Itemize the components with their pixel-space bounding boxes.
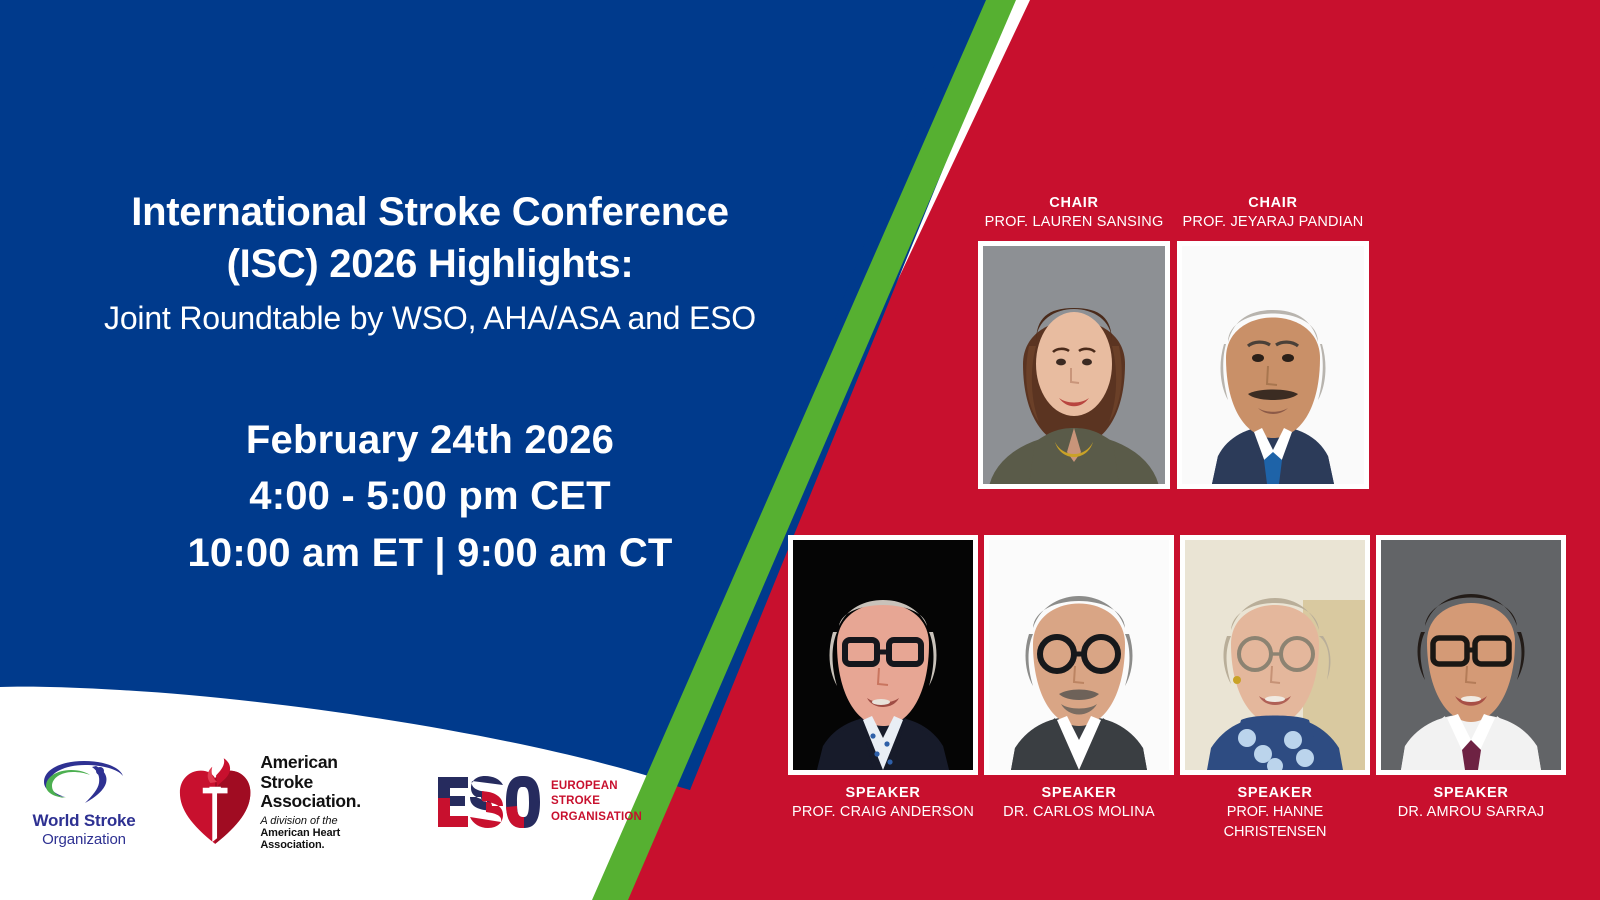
chair-card-1: CHAIR PROF. JEYARAJ PANDIAN [1177,194,1369,489]
speaker-name-0: PROF. CRAIG ANDERSON [788,803,978,823]
speaker-role-0: SPEAKER [788,784,978,803]
people-panel: CHAIR PROF. LAUREN SANSING [690,0,1600,900]
portrait-lauren-sansing [983,246,1165,484]
asa-logo-line1: American [260,753,400,773]
portrait-carlos-molina [989,540,1169,770]
asa-logo-line3: Association. [260,792,400,812]
speaker-photo-0 [793,540,973,770]
organization-logos: World Stroke Organization American Strok… [22,742,642,862]
portrait-hanne-christensen [1185,540,1365,770]
asa-logo-text: American Stroke Association. A division … [260,753,400,851]
portrait-jeyaraj-pandian [1182,246,1364,484]
speaker-photo-2 [1185,540,1365,770]
chair-role-1: CHAIR [1177,194,1369,213]
wso-logo-text: World Stroke Organization [32,811,135,848]
chair-role-0: CHAIR [978,194,1170,213]
aha-heart-torch-icon [178,756,252,848]
speaker-name-3: DR. AMROU SARRAJ [1376,803,1566,823]
speaker-label-3: SPEAKER DR. AMROU SARRAJ [1376,784,1566,823]
eso-logo-line1: EUROPEAN [551,779,642,794]
eso-logo-text: EUROPEAN STROKE ORGANISATION [551,779,642,825]
speaker-photo-frame-3 [1376,535,1566,775]
chair-photo-frame-0 [978,241,1170,489]
asa-logo-line2: Stroke [260,773,400,793]
chair-card-0: CHAIR PROF. LAUREN SANSING [978,194,1170,489]
eso-logo-line3: ORGANISATION [551,810,642,825]
wso-logo-line2: Organization [32,831,135,848]
speaker-role-1: SPEAKER [984,784,1174,803]
chair-label-1: CHAIR PROF. JEYARAJ PANDIAN [1177,194,1369,233]
chair-photo-frame-1 [1177,241,1369,489]
chair-photo-0 [983,246,1165,484]
speaker-photo-frame-1 [984,535,1174,775]
speaker-card-0: SPEAKER PROF. CRAIG ANDERSON [788,535,978,823]
speaker-label-0: SPEAKER PROF. CRAIG ANDERSON [788,784,978,823]
chair-name-1: PROF. JEYARAJ PANDIAN [1177,213,1369,233]
eso-logo: EUROPEAN STROKE ORGANISATION [434,773,642,831]
speaker-label-1: SPEAKER DR. CARLOS MOLINA [984,784,1174,823]
chair-name-0: PROF. LAUREN SANSING [978,213,1170,233]
chair-photo-1 [1182,246,1364,484]
speaker-photo-3 [1381,540,1561,770]
speaker-label-2: SPEAKER PROF. HANNE CHRISTENSEN [1180,784,1370,843]
eso-logo-line2: STROKE [551,794,642,809]
speaker-photo-1 [989,540,1169,770]
speaker-name-2: PROF. HANNE CHRISTENSEN [1180,803,1370,842]
wso-logo: World Stroke Organization [22,756,146,848]
asa-logo: American Stroke Association. A division … [178,753,400,851]
portrait-craig-anderson [793,540,973,770]
speaker-role-2: SPEAKER [1180,784,1370,803]
asa-logo-sub1: A division of the [260,815,400,827]
wso-logo-line1: World Stroke [32,811,135,831]
portrait-amrou-sarraj [1381,540,1561,770]
conference-promo-poster: International Stroke Conference (ISC) 20… [0,0,1600,900]
speaker-card-3: SPEAKER DR. AMROU SARRAJ [1376,535,1566,823]
speaker-card-1: SPEAKER DR. CARLOS MOLINA [984,535,1174,823]
speaker-name-1: DR. CARLOS MOLINA [984,803,1174,823]
asa-logo-sub2: American Heart Association. [260,827,400,851]
speaker-photo-frame-0 [788,535,978,775]
wso-swoosh-icon [38,756,130,808]
speaker-photo-frame-2 [1180,535,1370,775]
speaker-card-2: SPEAKER PROF. HANNE CHRISTENSEN [1180,535,1370,843]
speaker-role-3: SPEAKER [1376,784,1566,803]
chair-label-0: CHAIR PROF. LAUREN SANSING [978,194,1170,233]
eso-monogram-icon [434,773,542,831]
